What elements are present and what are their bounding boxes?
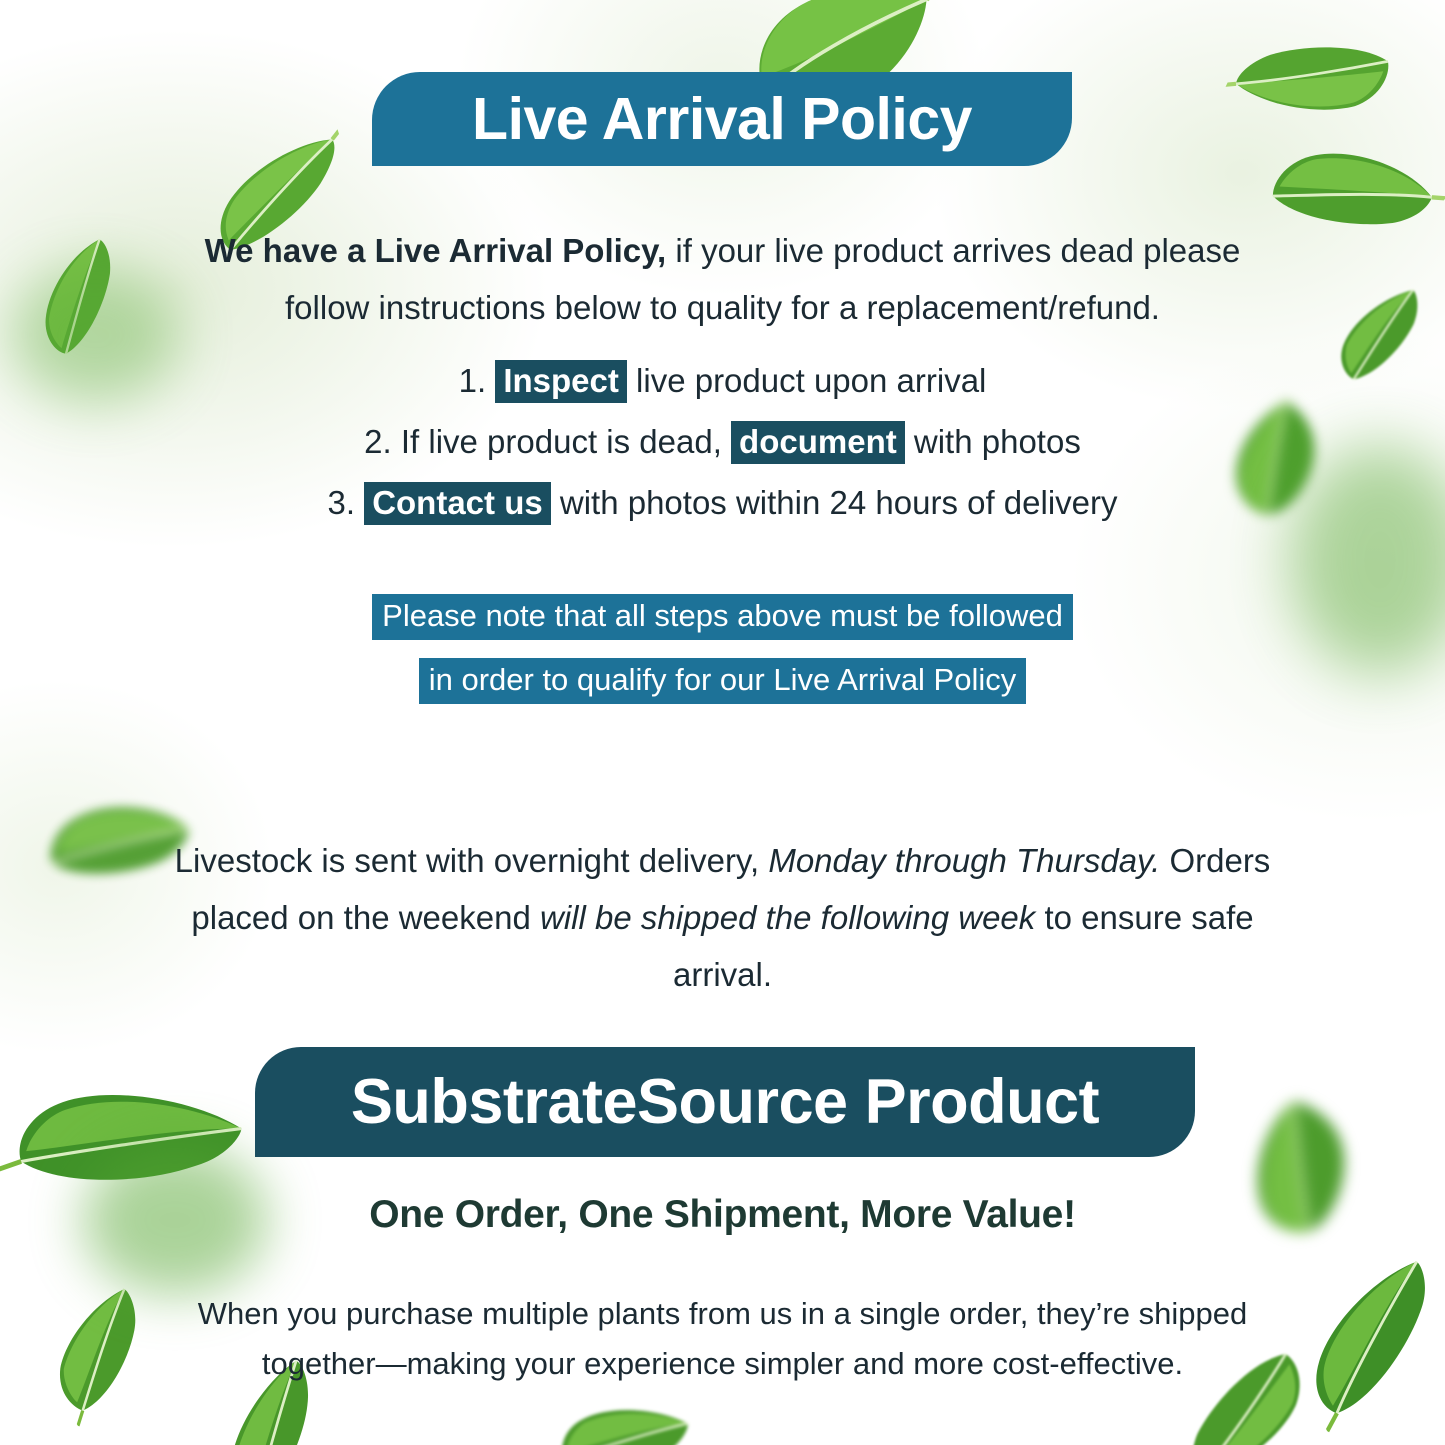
live-arrival-intro-lead: We have a Live Arrival Policy, (205, 232, 667, 269)
shipping-line-2-italic: will be shipped the following week (540, 899, 1035, 936)
substratesource-subheading: One Order, One Shipment, More Value! (160, 1193, 1285, 1237)
live-arrival-note-callout: Please note that all steps above must be… (160, 584, 1285, 711)
live-arrival-policy-banner: Live Arrival Policy (372, 72, 1072, 166)
note-line-1: Please note that all steps above must be… (372, 594, 1073, 640)
list-item: 2. If live product is dead, document wit… (160, 411, 1285, 472)
substratesource-body-paragraph: When you purchase multiple plants from u… (150, 1289, 1295, 1389)
shipping-line-1-plain: Livestock is sent with overnight deliver… (175, 842, 759, 879)
step-3-highlight: Contact us (364, 482, 551, 525)
live-arrival-policy-title: Live Arrival Policy (472, 85, 972, 153)
list-item: 3. Contact us with photos within 24 hour… (160, 472, 1285, 533)
live-arrival-steps-list: 1. Inspect live product upon arrival 2. … (160, 350, 1285, 533)
shipping-schedule-paragraph: Livestock is sent with overnight deliver… (160, 833, 1285, 1003)
leaf-icon (1221, 0, 1410, 161)
note-row-2: in order to qualify for our Live Arrival… (160, 648, 1285, 712)
leaf-icon (1315, 273, 1445, 395)
step-1-number: 1. (459, 362, 487, 399)
step-1-post: live product upon arrival (636, 362, 986, 399)
shipping-line-1-italic: Monday through Thursday. (768, 842, 1160, 879)
policy-infographic-page: Live Arrival Policy We have a Live Arriv… (0, 0, 1445, 1445)
note-line-2: in order to qualify for our Live Arrival… (419, 658, 1027, 704)
note-row-1: Please note that all steps above must be… (160, 584, 1285, 648)
list-item: 1. Inspect live product upon arrival (160, 350, 1285, 411)
substratesource-body-line-2: together—making your experience simpler … (262, 1346, 1183, 1381)
substratesource-product-banner: SubstrateSource Product (255, 1047, 1195, 1157)
substratesource-body-line-1: When you purchase multiple plants from u… (198, 1296, 1247, 1331)
live-arrival-intro-paragraph: We have a Live Arrival Policy, if your l… (160, 223, 1285, 337)
step-1-highlight: Inspect (495, 360, 627, 403)
step-2-pre: If live product is dead, (401, 423, 722, 460)
step-3-post: with photos within 24 hours of delivery (560, 484, 1118, 521)
substratesource-product-title: SubstrateSource Product (351, 1066, 1099, 1138)
leaf-icon (5, 223, 157, 372)
step-2-highlight: document (731, 421, 905, 464)
step-3-number: 3. (327, 484, 355, 521)
step-2-post: with photos (914, 423, 1081, 460)
step-2-number: 2. (364, 423, 392, 460)
